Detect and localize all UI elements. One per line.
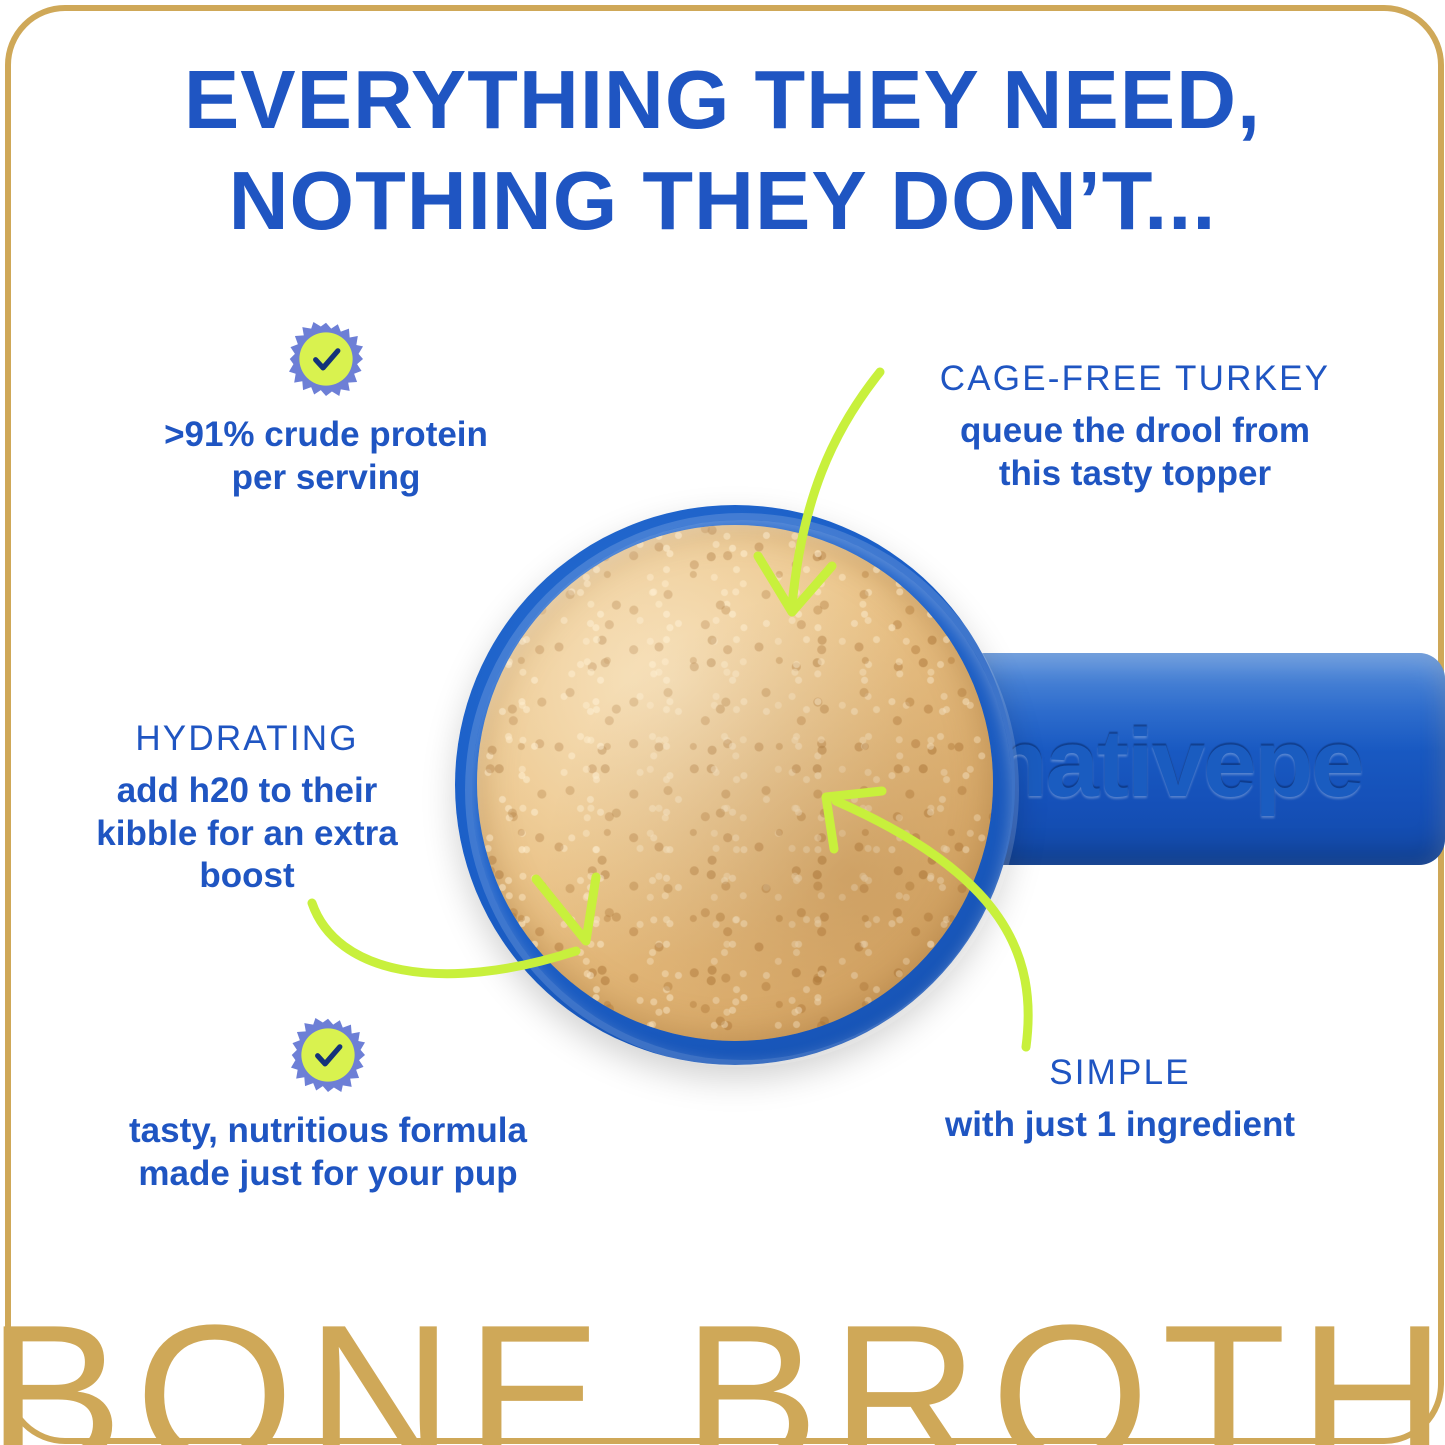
badge-protein-line-2: per serving [132, 457, 520, 500]
check-starburst-icon [289, 322, 363, 396]
callout-simple: SIMPLE with just 1 ingredient [925, 1052, 1315, 1147]
badge-protein: >91% crude protein per serving [132, 322, 520, 499]
badge-formula-line-2: made just for your pup [92, 1153, 564, 1196]
headline-line-2: NOTHING THEY DON’T... [0, 159, 1445, 242]
callout-hydrating-line-1: add h20 to their [72, 770, 422, 813]
callout-simple-line-1: with just 1 ingredient [925, 1104, 1315, 1147]
callout-cage-free-turkey: CAGE-FREE TURKEY queue the drool from th… [900, 358, 1370, 495]
badge-protein-text: >91% crude protein per serving [132, 414, 520, 499]
callout-simple-body: with just 1 ingredient [925, 1104, 1315, 1147]
callout-turkey-line-1: queue the drool from [900, 410, 1370, 453]
callout-hydrating-body: add h20 to their kibble for an extra boo… [72, 770, 422, 898]
page-title: EVERYTHING THEY NEED, NOTHING THEY DON’T… [0, 58, 1445, 242]
badge-formula-text: tasty, nutritious formula made just for … [92, 1110, 564, 1195]
headline-line-1: EVERYTHING THEY NEED, [0, 58, 1445, 141]
badge-formula: tasty, nutritious formula made just for … [92, 1018, 564, 1195]
callout-hydrating: HYDRATING add h20 to their kibble for an… [72, 718, 422, 898]
check-starburst-icon [291, 1018, 365, 1092]
infographic-canvas: EVERYTHING THEY NEED, NOTHING THEY DON’T… [0, 0, 1445, 1445]
product-name-footer: BONE BROTH [0, 1296, 1445, 1445]
callout-turkey-body: queue the drool from this tasty topper [900, 410, 1370, 495]
simple-arrow-icon [800, 765, 1050, 1055]
callout-turkey-line-2: this tasty topper [900, 453, 1370, 496]
callout-hydrating-line-2: kibble for an extra [72, 813, 422, 856]
callout-simple-heading: SIMPLE [925, 1052, 1315, 1094]
callout-turkey-heading: CAGE-FREE TURKEY [900, 358, 1370, 400]
badge-formula-line-1: tasty, nutritious formula [92, 1110, 564, 1153]
callout-hydrating-heading: HYDRATING [72, 718, 422, 760]
callout-hydrating-line-3: boost [72, 855, 422, 898]
badge-protein-line-1: >91% crude protein [132, 414, 520, 457]
